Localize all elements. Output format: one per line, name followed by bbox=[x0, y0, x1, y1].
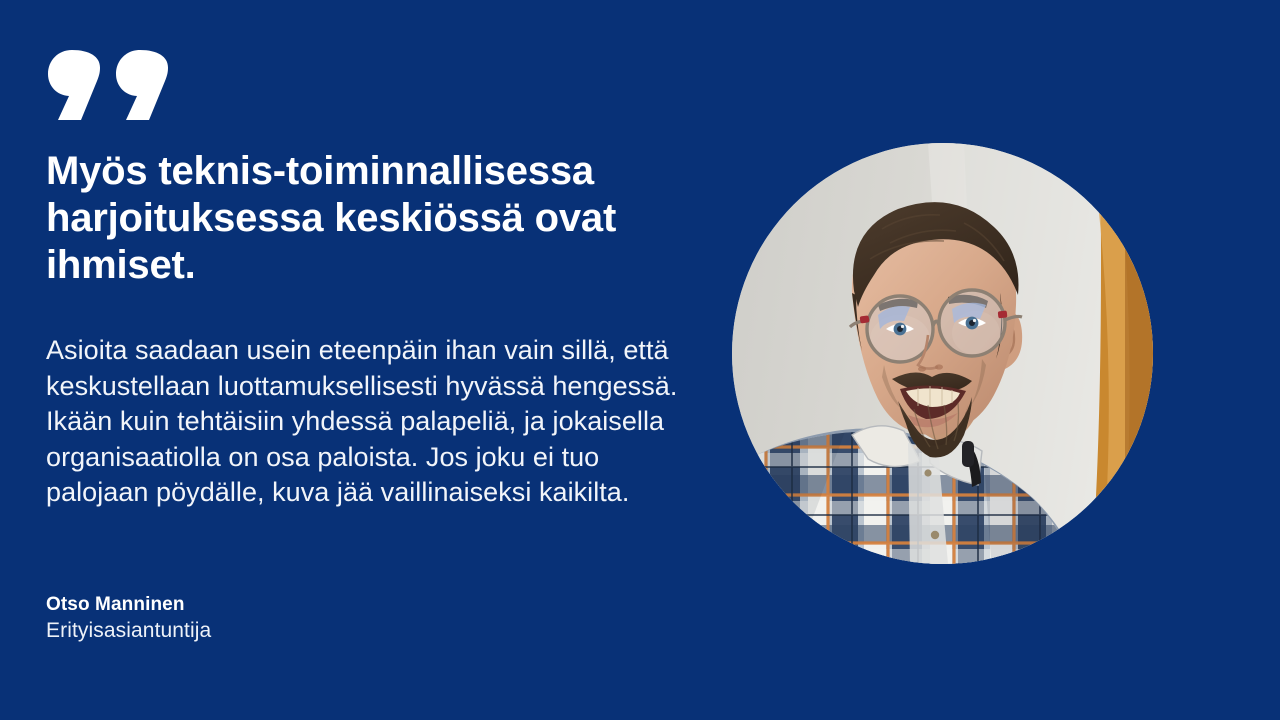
portrait-photo bbox=[732, 143, 1153, 564]
quote-mark-icon bbox=[48, 48, 188, 122]
quote-text-column: Myös teknis-toiminnallisessa harjoitukse… bbox=[46, 0, 696, 720]
quote-headline: Myös teknis-toiminnallisessa harjoitukse… bbox=[46, 148, 694, 289]
attribution: Otso Manninen Erityisasiantuntija bbox=[46, 592, 606, 644]
attribution-role: Erityisasiantuntija bbox=[46, 617, 606, 644]
quote-body-text: Asioita saadaan usein eteenpäin ihan vai… bbox=[46, 333, 696, 511]
attribution-name: Otso Manninen bbox=[46, 592, 606, 617]
quote-slide: Myös teknis-toiminnallisessa harjoitukse… bbox=[0, 0, 1280, 720]
